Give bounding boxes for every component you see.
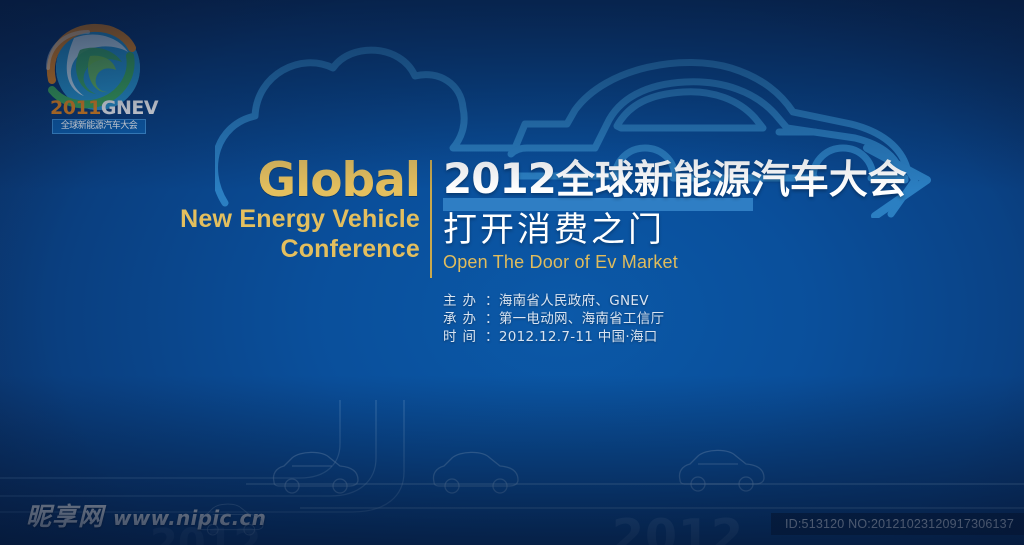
credit-row-datetime: 时间：2012.12.7-11 中国·海口 xyxy=(443,328,664,346)
chinese-main-title: 2012全球新能源汽车大会 xyxy=(443,155,913,205)
english-title-lockup: Global New Energy Vehicle Conference xyxy=(148,158,420,264)
english-title-line1: Global xyxy=(148,158,420,204)
credits-block: 主办：海南省人民政府、GNEV 承办：第一电动网、海南省工信厅 时间：2012.… xyxy=(443,292,664,346)
chinese-title-lockup: 2012全球新能源汽车大会 打开消费之门 Open The Door of Ev… xyxy=(443,155,913,273)
watermark-brand: 昵享网 xyxy=(26,497,104,533)
credit-row-organizer: 主办：海南省人民政府、GNEV xyxy=(443,292,664,310)
ghost-year-right: 2012 xyxy=(612,509,744,545)
gnev-logo: 2011GNEV 全球新能源汽车大会 xyxy=(48,24,148,136)
english-title-line3: Conference xyxy=(148,234,420,264)
credit-sep-organizer: ： xyxy=(485,293,499,309)
logo-acronym: GNEV xyxy=(101,97,158,119)
credit-sep-coorganizer: ： xyxy=(485,311,499,327)
logo-chinese-subtitle: 全球新能源汽车大会 xyxy=(52,119,146,134)
watermark-car-icon xyxy=(196,499,266,539)
english-title-line2: New Energy Vehicle xyxy=(148,204,420,234)
english-slogan: Open The Door of Ev Market xyxy=(443,251,913,273)
poster-canvas: 2012 2012 2011GNEV 全球新能源汽车大会 Global New … xyxy=(0,0,1024,545)
credit-row-coorganizer: 承办：第一电动网、海南省工信厅 xyxy=(443,310,664,328)
credit-value-organizer: 海南省人民政府、GNEV xyxy=(499,293,649,309)
credit-key-datetime: 时间 xyxy=(443,328,485,346)
credit-key-organizer: 主办 xyxy=(443,292,485,310)
image-id-text: ID:513120 NO:20121023120917306137 xyxy=(785,517,1014,531)
chinese-title-text: 全球新能源汽车大会 xyxy=(556,158,907,203)
logo-wordmark: 2011GNEV xyxy=(50,98,146,118)
credit-value-datetime: 2012.12.7-11 中国·海口 xyxy=(499,329,658,345)
credit-value-coorganizer: 第一电动网、海南省工信厅 xyxy=(499,311,665,327)
credit-key-coorganizer: 承办 xyxy=(443,310,485,328)
chinese-slogan: 打开消费之门 xyxy=(443,209,913,251)
vertical-divider xyxy=(430,160,432,278)
image-id-strip: ID:513120 NO:20121023120917306137 xyxy=(771,513,1024,535)
credit-sep-datetime: ： xyxy=(485,329,499,345)
logo-year: 2011 xyxy=(50,97,101,119)
chinese-title-year: 2012 xyxy=(443,154,556,203)
